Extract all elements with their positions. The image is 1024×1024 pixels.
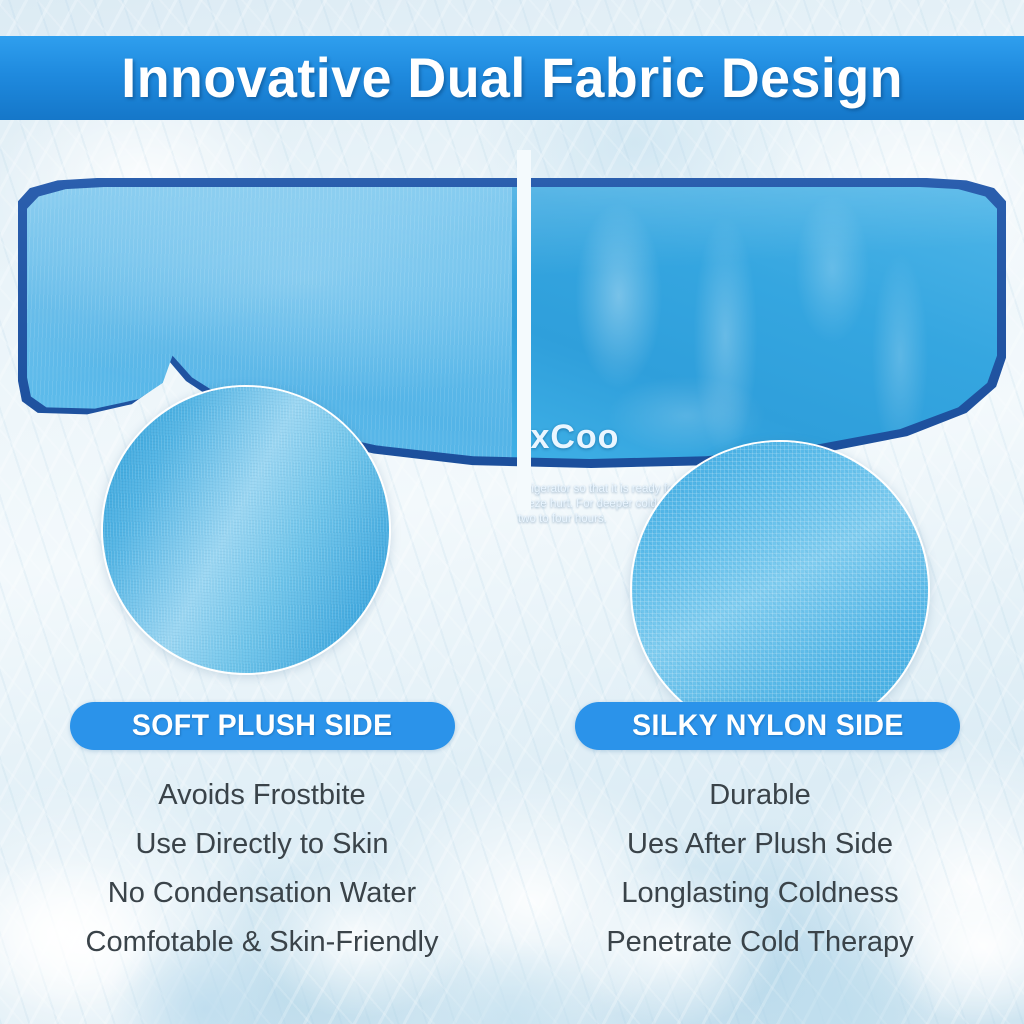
center-divider [517, 150, 531, 510]
silky-nylon-fabric-swatch [630, 440, 930, 740]
feature-item: Durable [709, 772, 811, 819]
feature-item: Longlasting Coldness [621, 870, 898, 917]
pill-soft-plush-side: SOFT PLUSH SIDE [70, 702, 455, 750]
feature-list-nylon: Durable Ues After Plush Side Longlasting… [540, 772, 980, 966]
brand-logo-text: ixCoo [520, 418, 619, 457]
pill-label: SOFT PLUSH SIDE [132, 709, 393, 743]
header-banner: Innovative Dual Fabric Design [0, 36, 1024, 120]
pill-silky-nylon-side: SILKY NYLON SIDE [575, 702, 960, 750]
feature-item: Avoids Frostbite [158, 772, 365, 819]
feature-list-plush: Avoids Frostbite Use Directly to Skin No… [42, 772, 482, 966]
feature-item: Penetrate Cold Therapy [606, 919, 913, 966]
feature-item: Use Directly to Skin [135, 821, 388, 868]
page-title: Innovative Dual Fabric Design [121, 50, 903, 106]
pill-label: SILKY NYLON SIDE [632, 709, 904, 743]
feature-item: No Condensation Water [108, 870, 416, 917]
feature-item: Comfotable & Skin-Friendly [86, 919, 439, 966]
feature-item: Ues After Plush Side [627, 821, 893, 868]
plush-texture [103, 387, 389, 673]
nylon-texture [632, 442, 928, 738]
soft-plush-fabric-swatch [101, 385, 391, 675]
